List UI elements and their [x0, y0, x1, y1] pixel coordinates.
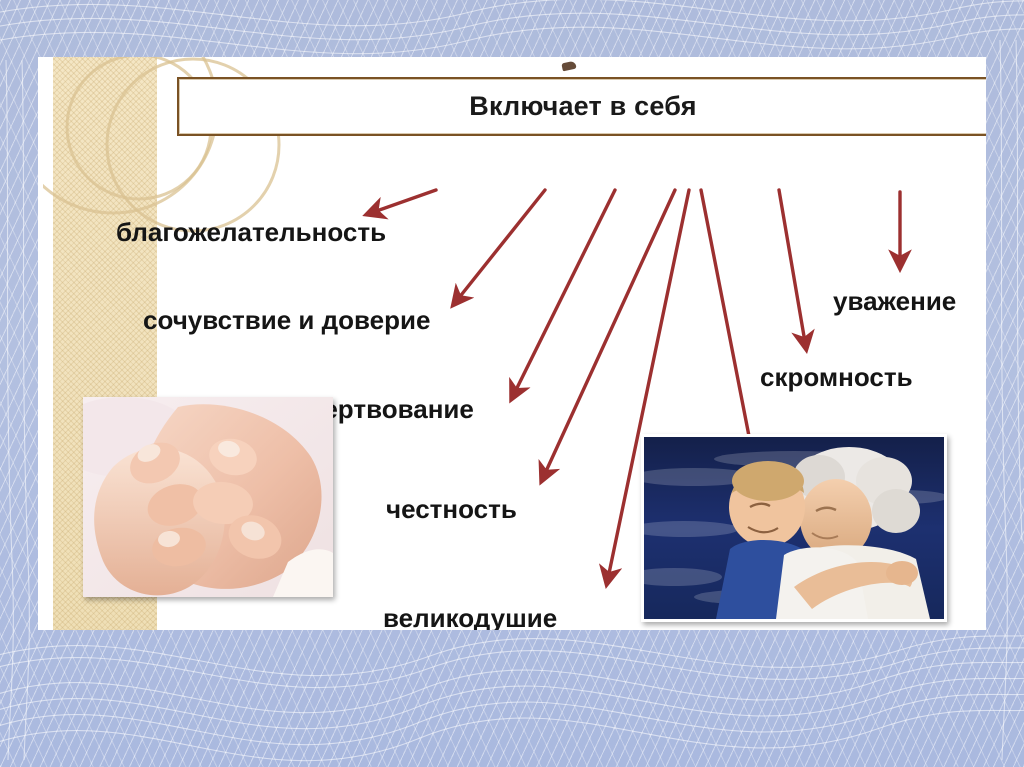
slide-viewer: Включает в себя благожелательностьсочувс…: [0, 0, 1024, 767]
cropped-text-fragment: [561, 61, 576, 72]
photo-clasped-hands: [83, 397, 333, 597]
concept-label-blagozhelatelnost: благожелательность: [116, 217, 386, 248]
concept-label-uvazhenie: уважение: [833, 286, 956, 317]
concept-label-sochuvstvie: сочувствие и доверие: [143, 305, 430, 336]
presentation-slide: Включает в себя благожелательностьсочувс…: [38, 57, 986, 630]
concept-label-velikodushie: великодушие: [383, 603, 557, 630]
arrow-to-iskrennost: [701, 190, 756, 472]
photo-boy-hugging-grandmother: MyShared: [641, 434, 947, 622]
title-box: Включает в себя: [177, 77, 986, 136]
arrow-to-samopozhertvovanie: [512, 190, 615, 398]
hug-illustration: [644, 437, 944, 619]
arrow-to-sochuvstvie: [454, 190, 545, 304]
concept-label-chestnost: честность: [386, 494, 517, 525]
concept-label-skromnost: скромность: [760, 362, 913, 393]
title-box-label: Включает в себя: [469, 91, 696, 122]
arrow-to-blagozhelatelnost: [368, 190, 436, 214]
arrow-to-skromnost: [779, 190, 806, 348]
clasped-hands-illustration: [83, 397, 333, 597]
